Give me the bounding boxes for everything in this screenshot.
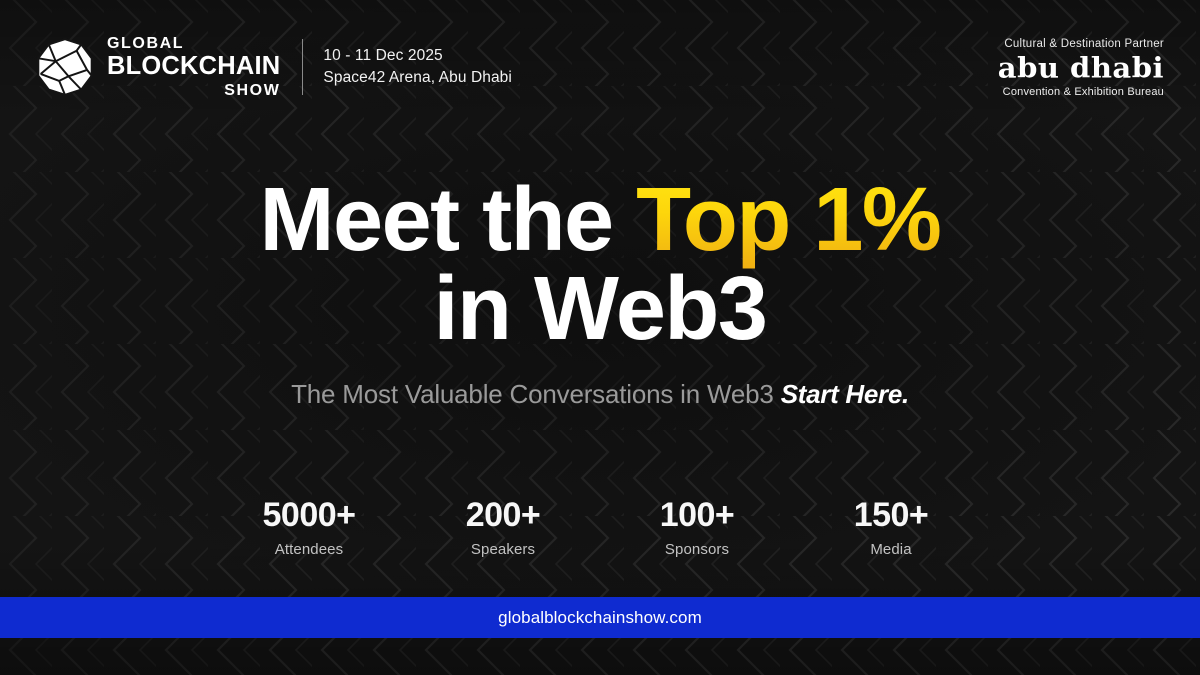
blockchain-gem-icon — [36, 38, 94, 96]
brand-lockup: GLOBAL BLOCKCHAIN SHOW 10 - 11 Dec 2025 … — [36, 36, 512, 99]
stat-item: 200+ Speakers — [406, 498, 600, 558]
headline-line-2: in Web3 — [0, 265, 1200, 354]
stat-value: 150+ — [794, 498, 988, 534]
subtitle-plain: The Most Valuable Conversations in Web3 — [291, 379, 781, 409]
stat-label: Attendees — [212, 541, 406, 558]
partner-kicker: Cultural & Destination Partner — [1004, 38, 1164, 50]
stat-label: Media — [794, 541, 988, 558]
headline-accent: Top 1% — [636, 170, 940, 270]
wordmark-blockchain: BLOCKCHAIN — [107, 54, 280, 80]
partner-logo-text: abu dhabi — [998, 54, 1164, 83]
website-banner: globalblockchainshow.com — [0, 597, 1200, 638]
stat-label: Sponsors — [600, 541, 794, 558]
poster-canvas: GLOBAL BLOCKCHAIN SHOW 10 - 11 Dec 2025 … — [0, 0, 1200, 675]
event-venue: Space42 Arena, Abu Dhabi — [323, 67, 512, 89]
stats-row: 5000+ Attendees 200+ Speakers 100+ Spons… — [0, 498, 1200, 558]
headline-plain: Meet the — [260, 170, 637, 270]
stat-value: 100+ — [600, 498, 794, 534]
wordmark-show: SHOW — [107, 83, 280, 99]
header-divider — [302, 39, 303, 95]
stat-item: 5000+ Attendees — [212, 498, 406, 558]
stat-value: 5000+ — [212, 498, 406, 534]
stat-item: 150+ Media — [794, 498, 988, 558]
hero-subtitle: The Most Valuable Conversations in Web3 … — [0, 379, 1200, 410]
page-title: Meet the Top 1% in Web3 — [0, 176, 1200, 354]
wordmark-global: GLOBAL — [107, 36, 280, 52]
event-details: 10 - 11 Dec 2025 Space42 Arena, Abu Dhab… — [323, 45, 512, 90]
stat-label: Speakers — [406, 541, 600, 558]
hero-section: Meet the Top 1% in Web3 The Most Valuabl… — [0, 176, 1200, 410]
stat-value: 200+ — [406, 498, 600, 534]
brand-wordmark: GLOBAL BLOCKCHAIN SHOW — [107, 36, 280, 99]
stat-item: 100+ Sponsors — [600, 498, 794, 558]
partner-lockup: Cultural & Destination Partner abu dhabi… — [998, 38, 1164, 98]
website-url[interactable]: globalblockchainshow.com — [498, 608, 702, 628]
partner-subtitle: Convention & Exhibition Bureau — [1003, 86, 1164, 98]
poster-header: GLOBAL BLOCKCHAIN SHOW 10 - 11 Dec 2025 … — [0, 0, 1200, 130]
headline-line-1: Meet the Top 1% — [0, 176, 1200, 265]
event-date: 10 - 11 Dec 2025 — [323, 45, 512, 67]
subtitle-accent: Start Here. — [781, 379, 909, 409]
